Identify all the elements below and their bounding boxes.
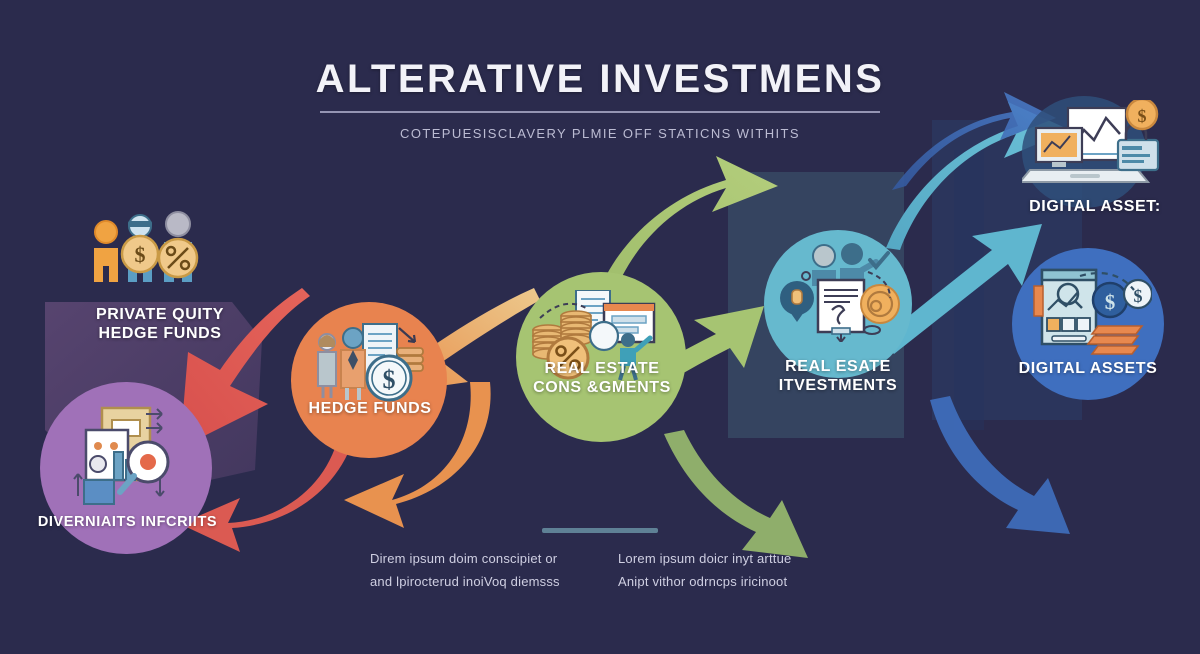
footer-left-line2: and lpirocterud inoiVoq diemsss: [370, 571, 582, 594]
footer-left-line1: Direm ipsum doim conscipiet or: [370, 548, 582, 571]
atm-coins-dollar-icon: $ $: [1028, 264, 1152, 360]
page-subtitle: COTEPUESISCLAVERY PLMIE OFF STATICNS WIT…: [0, 126, 1200, 141]
coins-percent-presentation-icon: [532, 290, 668, 382]
footer-column-right: Lorem ipsum doicr inyt arttue Anipt vith…: [618, 548, 830, 594]
analyst-chart-magnifier-icon: [72, 404, 182, 508]
node-private-equity[interactable]: $ PRIVATE QUITY HEDGE FUNDS: [60, 210, 260, 350]
svg-text:$: $: [1105, 290, 1116, 314]
node-hedge-funds[interactable]: $ HEDGE FUNDS: [291, 302, 449, 460]
infographic-canvas: ALTERATIVE INVESTMENS COTEPUESISCLAVERY …: [0, 0, 1200, 654]
node-private-equity-label: PRIVATE QUITY HEDGE FUNDS: [60, 306, 260, 344]
node-digital-assets[interactable]: $ $ DIGITAL ASSETS: [1012, 248, 1172, 408]
advisors-document-dollar-icon: $: [313, 322, 427, 406]
svg-text:$: $: [383, 365, 396, 394]
svg-text:$: $: [135, 242, 146, 267]
footer-right-line1: Lorem ipsum doicr inyt arttue: [618, 548, 830, 571]
footer-column-left: Direm ipsum doim conscipiet or and lpiro…: [370, 548, 582, 594]
node-real-estate-cons[interactable]: REAL ESTATE CONS &GMENTS: [516, 272, 688, 444]
footer-divider: [542, 528, 658, 533]
page-title: ALTERATIVE INVESTMENS: [0, 58, 1200, 100]
footer-columns: Direm ipsum doim conscipiet or and lpiro…: [370, 548, 830, 594]
node-diversification[interactable]: DIVERNIAITS INFCRIITS: [40, 382, 215, 557]
node-real-estate-investments[interactable]: REAL ESATE ITVESTMENTS: [764, 230, 914, 390]
header: ALTERATIVE INVESTMENS COTEPUESISCLAVERY …: [0, 58, 1200, 141]
contract-signature-seal-icon: [780, 242, 900, 342]
arrow-realestate-down: [664, 430, 808, 558]
footer-right-line2: Anipt vithor odrncps iricinoot: [618, 571, 830, 594]
title-underline: [320, 111, 880, 113]
svg-text:$: $: [1134, 286, 1143, 306]
people-money-percent-icon: $: [78, 210, 206, 300]
